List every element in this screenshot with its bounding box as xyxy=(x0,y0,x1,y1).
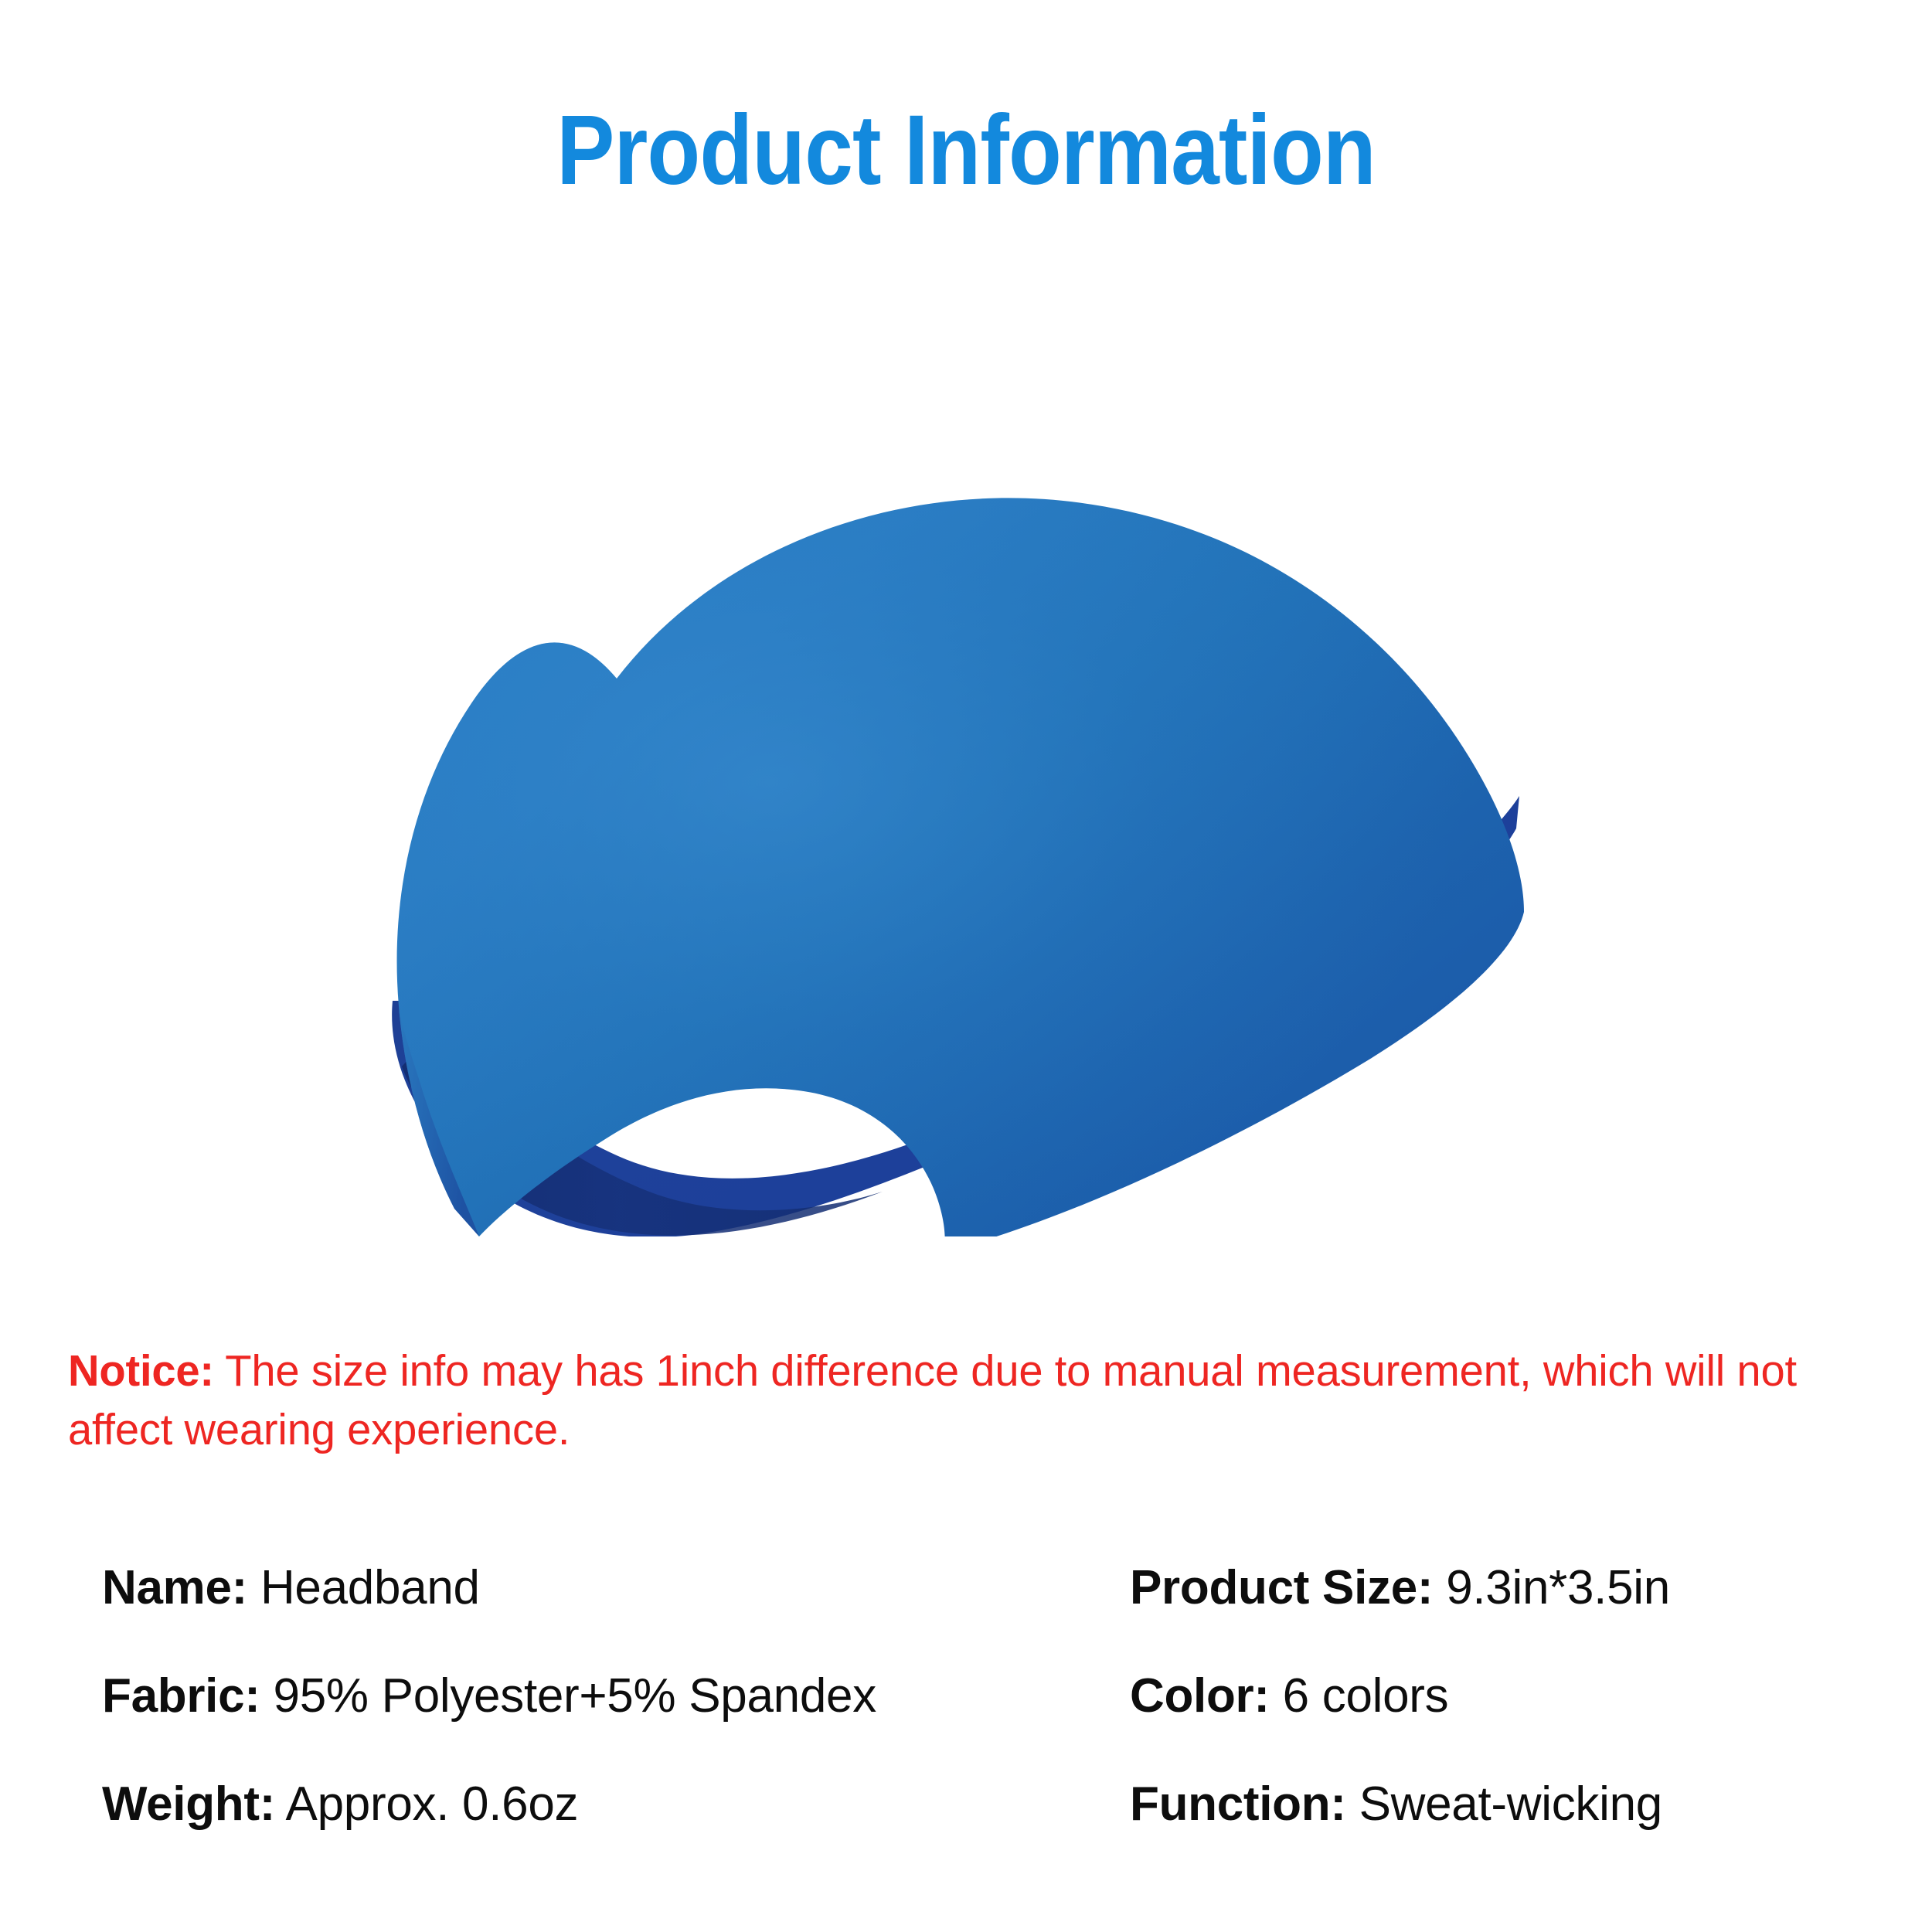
spec-label-fabric: Fabric: xyxy=(102,1669,260,1723)
spec-row-weight: Weight: Approx. 0.6oz xyxy=(102,1781,1130,1828)
spec-row-color: Color: 6 colors xyxy=(1130,1672,1879,1720)
spec-row-product-size: Product Size: 9.3in*3.5in xyxy=(1130,1564,1879,1612)
specification-table: Name: Headband Product Size: 9.3in*3.5in… xyxy=(102,1534,1879,1859)
notice-text: Notice: The size info may has 1inch diff… xyxy=(68,1342,1865,1460)
spec-value-fabric: 95% Polyester+5% Spandex xyxy=(260,1669,876,1723)
spec-value-product-size: 9.3in*3.5in xyxy=(1433,1561,1670,1614)
spec-label-color: Color: xyxy=(1130,1669,1270,1723)
spec-label-function: Function: xyxy=(1130,1777,1346,1831)
headband-illustration xyxy=(371,433,1546,1236)
spec-label-name: Name: xyxy=(102,1561,247,1614)
spec-label-weight: Weight: xyxy=(102,1777,275,1831)
spec-row-fabric: Fabric: 95% Polyester+5% Spandex xyxy=(102,1672,1130,1720)
headband-top-sheen xyxy=(397,498,1524,1236)
notice-body: The size info may has 1inch difference d… xyxy=(68,1346,1797,1454)
spec-value-color: 6 colors xyxy=(1270,1669,1449,1723)
spec-row-function: Function: Sweat-wicking xyxy=(1130,1781,1879,1828)
spec-value-weight: Approx. 0.6oz xyxy=(275,1777,578,1831)
product-image xyxy=(371,433,1546,1236)
spec-value-name: Headband xyxy=(247,1561,480,1614)
spec-label-product-size: Product Size: xyxy=(1130,1561,1433,1614)
spec-value-function: Sweat-wicking xyxy=(1346,1777,1662,1831)
spec-row-name: Name: Headband xyxy=(102,1564,1130,1612)
page-title: Product Information xyxy=(116,99,1816,202)
notice-label: Notice: xyxy=(68,1346,214,1396)
